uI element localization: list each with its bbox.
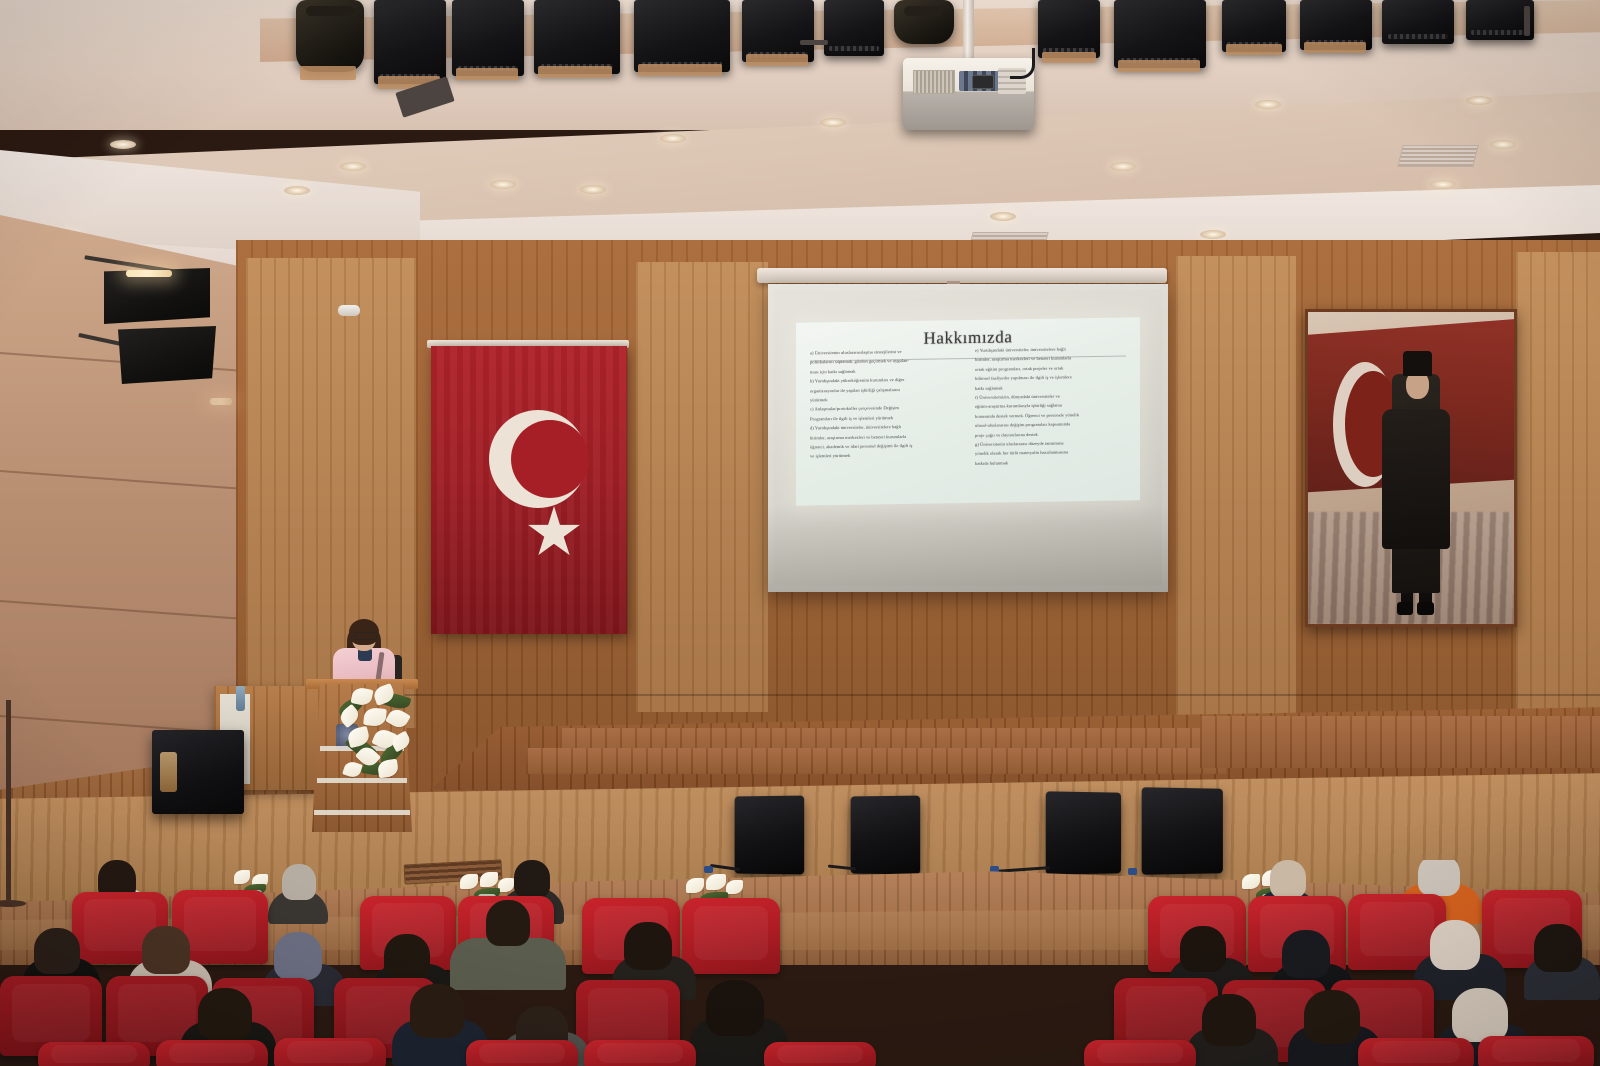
projector-vent-grille <box>913 70 955 94</box>
stage-light-fresnel <box>894 0 954 44</box>
stage-light-icon <box>634 0 730 72</box>
stage-light-icon <box>1382 0 1454 44</box>
subwoofer-speaker <box>152 730 244 814</box>
flower-petal <box>498 878 514 892</box>
attendee-head <box>706 980 764 1036</box>
attendee-head <box>1270 860 1306 898</box>
stage-light-icon <box>824 0 884 56</box>
wall-uplight <box>126 270 172 277</box>
auditorium-seat[interactable] <box>38 1042 150 1066</box>
attendee-head <box>282 864 316 900</box>
downlight-icon <box>1466 96 1492 105</box>
light-mount-pad <box>638 64 722 76</box>
attendee-head <box>410 984 464 1038</box>
light-mount-pad <box>456 68 518 80</box>
attendee-head <box>486 900 530 946</box>
attendee-head <box>384 934 430 980</box>
turkish-flag-banner <box>431 346 627 634</box>
downlight-icon <box>580 185 606 194</box>
projection-screen: Hakkımızda a) Üniversitenin uluslararası… <box>768 284 1168 592</box>
attendee-head <box>514 860 550 898</box>
attendee-head <box>1430 920 1480 970</box>
downlight-icon <box>1430 180 1456 189</box>
downlight-icon <box>110 140 136 149</box>
flower-petal <box>726 880 743 894</box>
slide-right-column: e) Yurtdışındaki üniversiteler, üniversi… <box>975 343 1128 496</box>
slide-text-line: katkıda bulunmak <box>975 456 1128 468</box>
wood-wall-accent-panel <box>1516 252 1600 722</box>
auditorium-seat[interactable] <box>1478 1036 1594 1066</box>
slide-left-column: a) Üniversitenin uluslararasılaşma strat… <box>810 346 963 499</box>
projector-cable <box>1010 48 1035 79</box>
flower-petal <box>234 870 250 884</box>
attendee-head <box>34 928 80 974</box>
stage-light-icon <box>374 0 446 84</box>
auditorium-seat[interactable] <box>764 1042 876 1066</box>
attendee-head <box>142 926 190 974</box>
slide-text-line: ve işlemleri yürütmek <box>810 450 963 462</box>
flower-petal <box>363 707 387 727</box>
downlight-icon <box>340 162 366 171</box>
stage-light-icon <box>742 0 814 62</box>
downlight-icon <box>660 134 686 143</box>
stage-step <box>526 748 1226 774</box>
projected-slide: Hakkımızda a) Üniversitenin uluslararası… <box>796 317 1140 505</box>
attendee-head <box>1534 924 1582 972</box>
attendee-head <box>1452 988 1508 1042</box>
light-mount-pad <box>1226 44 1282 55</box>
flower-petal <box>460 874 478 889</box>
light-mount-pad <box>1304 42 1366 53</box>
crescent-cutout <box>511 420 589 498</box>
downlight-icon <box>820 118 846 127</box>
downlight-icon <box>1110 162 1136 171</box>
ataturk-portrait-frame <box>1305 309 1517 627</box>
water-bottle <box>236 686 245 711</box>
auditorium-seat[interactable] <box>1084 1040 1196 1066</box>
light-mount-pad <box>538 66 612 78</box>
stage-light-fresnel <box>296 0 364 72</box>
light-mount-pad <box>1118 60 1200 72</box>
attendee-head <box>1180 926 1226 972</box>
audience-seating-area <box>0 860 1600 1066</box>
flower-petal <box>480 872 498 887</box>
screen-roller-housing <box>757 268 1167 283</box>
attendee-head <box>1418 860 1460 896</box>
downlight-icon <box>1255 100 1281 109</box>
auditorium-seat[interactable] <box>466 1040 578 1066</box>
lectern-stripe <box>314 810 410 815</box>
light-bracket <box>1524 6 1530 36</box>
auditorium-seat[interactable] <box>274 1038 386 1066</box>
speaker-label <box>160 752 177 792</box>
flower-petal <box>385 706 411 731</box>
downlight-icon <box>1200 230 1226 239</box>
wall-seam <box>236 694 1600 696</box>
kalpak-hat-icon <box>1403 351 1432 376</box>
auditorium-seat[interactable] <box>1358 1038 1474 1066</box>
flower-petal <box>1242 874 1260 889</box>
light-mount-pad <box>1042 52 1096 63</box>
lectern-flower-arrangement <box>334 686 416 782</box>
attendee-head <box>198 988 252 1040</box>
ataturk-portrait <box>1308 312 1514 624</box>
portrait-coat <box>1382 409 1450 549</box>
line-array-speaker <box>118 326 216 384</box>
downlight-icon <box>490 180 516 189</box>
flower-petal <box>342 760 363 780</box>
wood-wall-accent-panel <box>1176 256 1296 716</box>
attendee-head <box>274 932 322 980</box>
stage-light-icon <box>452 0 524 76</box>
projector-lens-icon <box>972 75 994 89</box>
stage-light-icon <box>1038 0 1100 58</box>
stage-light-icon <box>534 0 620 74</box>
downlight-icon <box>990 212 1016 221</box>
portrait-shoe <box>1417 602 1433 614</box>
eyeglasses-icon <box>354 632 377 640</box>
auditorium-seat[interactable] <box>584 1040 696 1066</box>
auditorium-seat[interactable] <box>156 1040 268 1066</box>
auditorium-photo: Hakkımızda a) Üniversitenin uluslararası… <box>0 0 1600 1066</box>
light-mount-pad <box>746 54 808 66</box>
light-mount-pad <box>300 66 356 80</box>
portrait-shoe <box>1397 602 1413 614</box>
downlight-icon <box>284 186 310 195</box>
hvac-vent <box>1397 145 1478 167</box>
star-icon <box>527 506 581 560</box>
flower-petal <box>686 878 704 893</box>
downlight-icon <box>1490 140 1516 149</box>
flower-petal <box>706 874 726 890</box>
slide-body: a) Üniversitenin uluslararasılaşma strat… <box>810 343 1128 499</box>
light-bracket <box>800 40 828 45</box>
security-camera-icon <box>338 305 360 316</box>
attendee-head <box>624 922 672 970</box>
attendee-head <box>1202 994 1256 1046</box>
attendee-head <box>1304 990 1360 1044</box>
auditorium-seat[interactable] <box>682 898 780 974</box>
stage-step <box>1200 716 1600 768</box>
wood-wall-accent-panel <box>636 262 768 712</box>
attendee-head <box>1282 930 1330 978</box>
screen-shadow <box>768 504 1168 592</box>
wall-uplight <box>210 398 232 405</box>
stage-light-icon <box>1114 0 1206 68</box>
